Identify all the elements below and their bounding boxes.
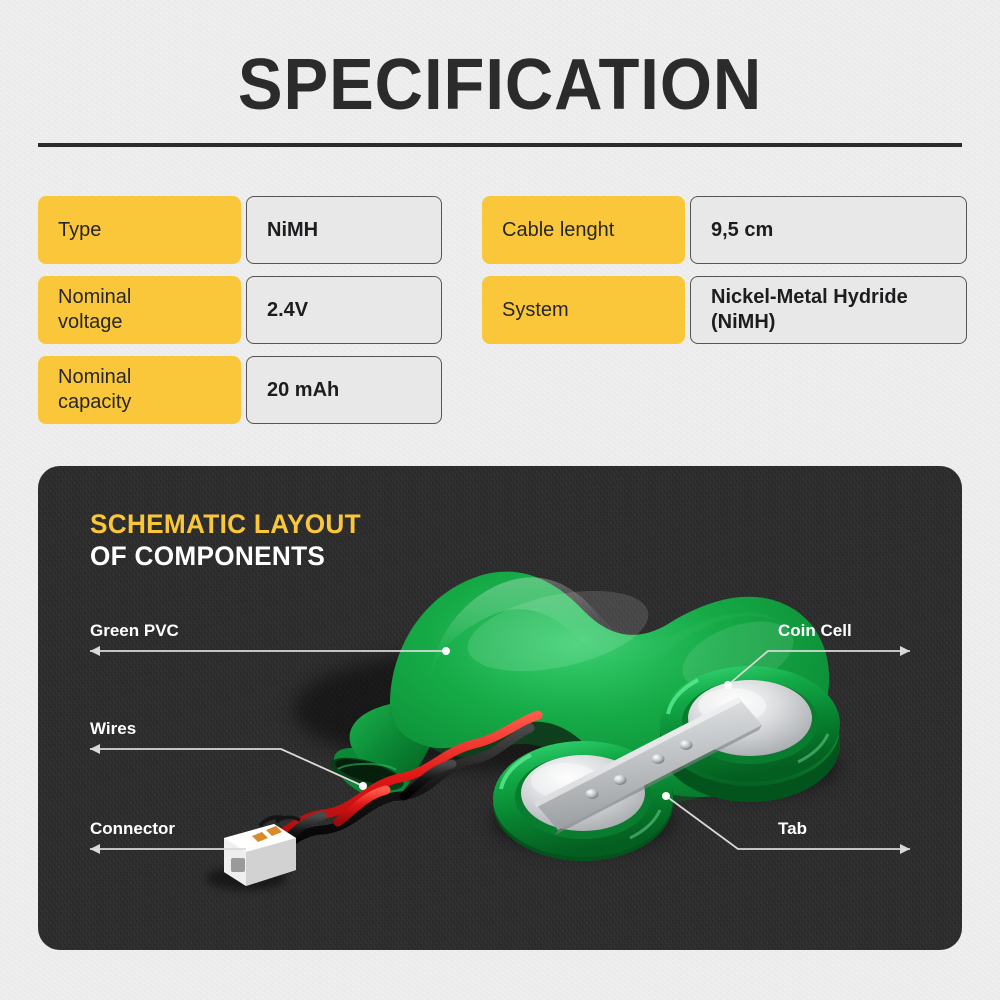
spec-value-label: 9,5 cm [711,218,773,243]
spec-value-label: Nickel-Metal Hydride (NiMH) [711,285,908,335]
spec-row: Nominal capacity 20 mAh [38,356,442,424]
spec-key-system: System [482,276,685,344]
spec-key-nominal-capacity: Nominal capacity [38,356,241,424]
spec-key-type: Type [38,196,241,264]
spec-key-nominal-voltage: Nominal voltage [38,276,241,344]
callout-label-green-pvc: Green PVC [90,621,179,641]
spec-row: System Nickel-Metal Hydride (NiMH) [482,276,962,344]
callout-label-connector: Connector [90,819,175,839]
title-divider [38,143,962,147]
spec-key-label: System [502,298,569,323]
callout-label-coin-cell: Coin Cell [778,621,852,641]
specification-table: Type NiMH Nominal voltage 2.4V Nominal c… [38,196,962,424]
spec-key-label: Type [58,218,101,243]
spec-value-nominal-voltage: 2.4V [246,276,442,344]
panel-heading-line1: SCHEMATIC LAYOUT [90,508,361,540]
spec-key-label: Cable lenght [502,218,614,243]
spec-row: Type NiMH [38,196,442,264]
spec-value-cable-lenght: 9,5 cm [690,196,967,264]
callout-label-wires: Wires [90,719,136,739]
callout-label-tab: Tab [778,819,807,839]
spec-column-right: Cable lenght 9,5 cm System Nickel-Metal … [482,196,962,424]
page-title: SPECIFICATION [35,47,965,123]
spec-value-type: NiMH [246,196,442,264]
spec-value-nominal-capacity: 20 mAh [246,356,442,424]
panel-heading: SCHEMATIC LAYOUT OF COMPONENTS [90,508,361,572]
panel-heading-line2: OF COMPONENTS [90,540,361,572]
spec-key-cable-lenght: Cable lenght [482,196,685,264]
spec-value-system: Nickel-Metal Hydride (NiMH) [690,276,967,344]
spec-key-label: Nominal voltage [58,285,131,335]
spec-column-left: Type NiMH Nominal voltage 2.4V Nominal c… [38,196,442,424]
specification-page: SPECIFICATION Type NiMH Nominal voltage … [0,0,1000,1000]
spec-value-label: 20 mAh [267,378,339,403]
spec-row: Cable lenght 9,5 cm [482,196,962,264]
spec-row: Nominal voltage 2.4V [38,276,442,344]
spec-key-label: Nominal capacity [58,365,131,415]
spec-value-label: 2.4V [267,298,308,323]
spec-value-label: NiMH [267,218,318,243]
schematic-panel: SCHEMATIC LAYOUT OF COMPONENTS Green PVC… [38,466,962,950]
